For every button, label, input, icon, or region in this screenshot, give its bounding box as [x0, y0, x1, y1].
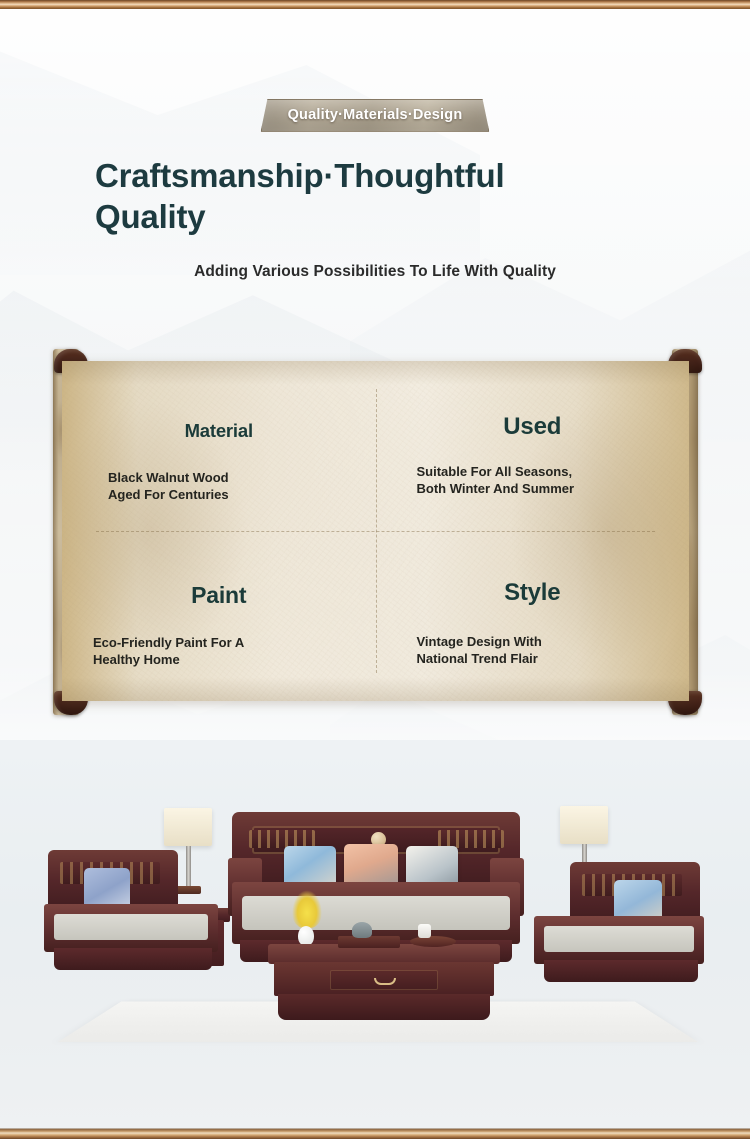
table-lamp-left-base: [176, 886, 201, 894]
sofa-cushion: [242, 896, 510, 930]
badge-container: Quality·Materials·Design: [0, 99, 750, 132]
furniture-product-photo: [0, 740, 750, 1130]
flower-vase: [298, 926, 314, 946]
tea-tray: [338, 936, 400, 948]
armchair-left-cushion: [54, 914, 208, 940]
coffee-table-handle: [374, 978, 396, 985]
product-detail-page: Quality·Materials·Design Craftsmanship·T…: [0, 0, 750, 1139]
armchair-right-cushion: [544, 926, 694, 952]
top-copper-rail: [0, 0, 750, 9]
feature-title-paint: Paint: [88, 582, 350, 609]
page-subtitle: Adding Various Possibilities To Life Wit…: [0, 263, 750, 281]
feature-title-style: Style: [402, 579, 664, 607]
feature-cell-paint: Paint Eco-Friendly Paint For A Healthy H…: [62, 531, 376, 701]
armchair-right-legs: [544, 960, 698, 982]
table-lamp-left-stem: [186, 846, 191, 886]
feature-title-used: Used: [402, 413, 664, 441]
tea-cup: [418, 924, 431, 938]
quality-badge: Quality·Materials·Design: [261, 99, 490, 132]
feature-cell-used: Used Suitable For All Seasons, Both Wint…: [376, 361, 690, 531]
coffee-table-legs: [278, 994, 490, 1020]
feature-cell-style: Style Vintage Design With National Trend…: [376, 531, 690, 701]
scroll-banner: Material Black Walnut Wood Aged For Cent…: [48, 335, 703, 730]
feature-body-paint: Eco-Friendly Paint For A Healthy Home: [93, 634, 350, 668]
flower-arrangement: [292, 890, 322, 928]
armchair-left-legs: [54, 948, 212, 970]
feature-cell-material: Material Black Walnut Wood Aged For Cent…: [62, 361, 376, 531]
feature-title-material: Material: [88, 420, 350, 442]
feature-grid: Material Black Walnut Wood Aged For Cent…: [62, 361, 689, 701]
feature-body-used: Suitable For All Seasons, Both Winter An…: [417, 463, 664, 497]
teapot: [352, 922, 372, 938]
bottom-copper-rail: [0, 1128, 750, 1139]
table-lamp-left-shade: [164, 808, 212, 846]
feature-body-style: Vintage Design With National Trend Flair: [417, 633, 664, 667]
page-title: Craftsmanship·Thoughtful Quality: [95, 155, 615, 237]
scroll-paper: Material Black Walnut Wood Aged For Cent…: [62, 361, 689, 701]
table-lamp-right-shade: [560, 806, 608, 844]
feature-body-material: Black Walnut Wood Aged For Centuries: [108, 469, 350, 503]
serving-tray: [410, 936, 456, 947]
